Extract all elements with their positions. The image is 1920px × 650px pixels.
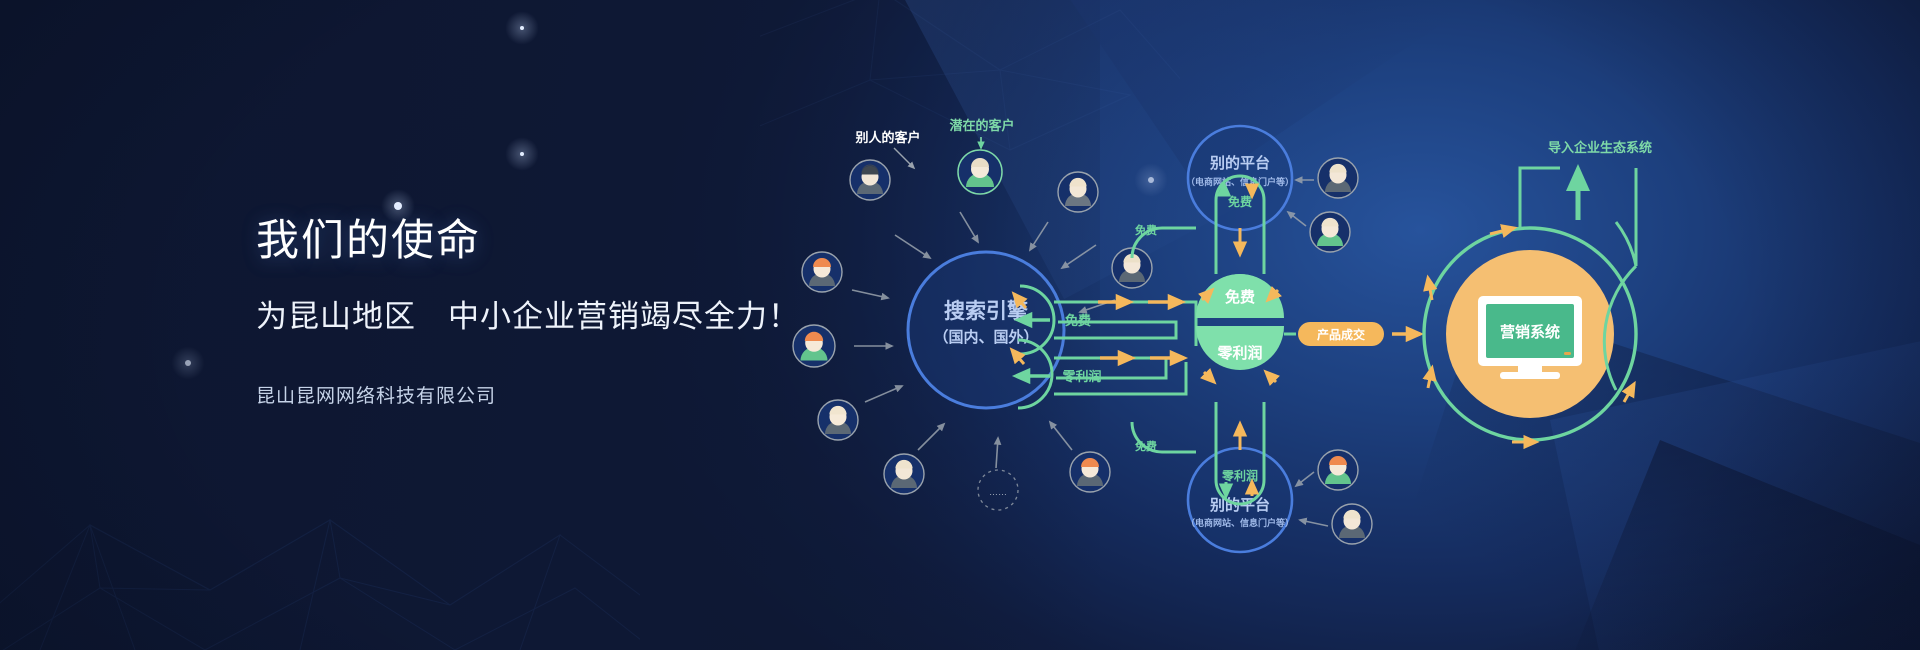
vignette-overlay [0, 0, 1920, 650]
hero-banner: 我们的使命 为昆山地区 中小企业营销竭尽全力！ 昆山昆网网络科技有限公司 [0, 0, 1920, 650]
